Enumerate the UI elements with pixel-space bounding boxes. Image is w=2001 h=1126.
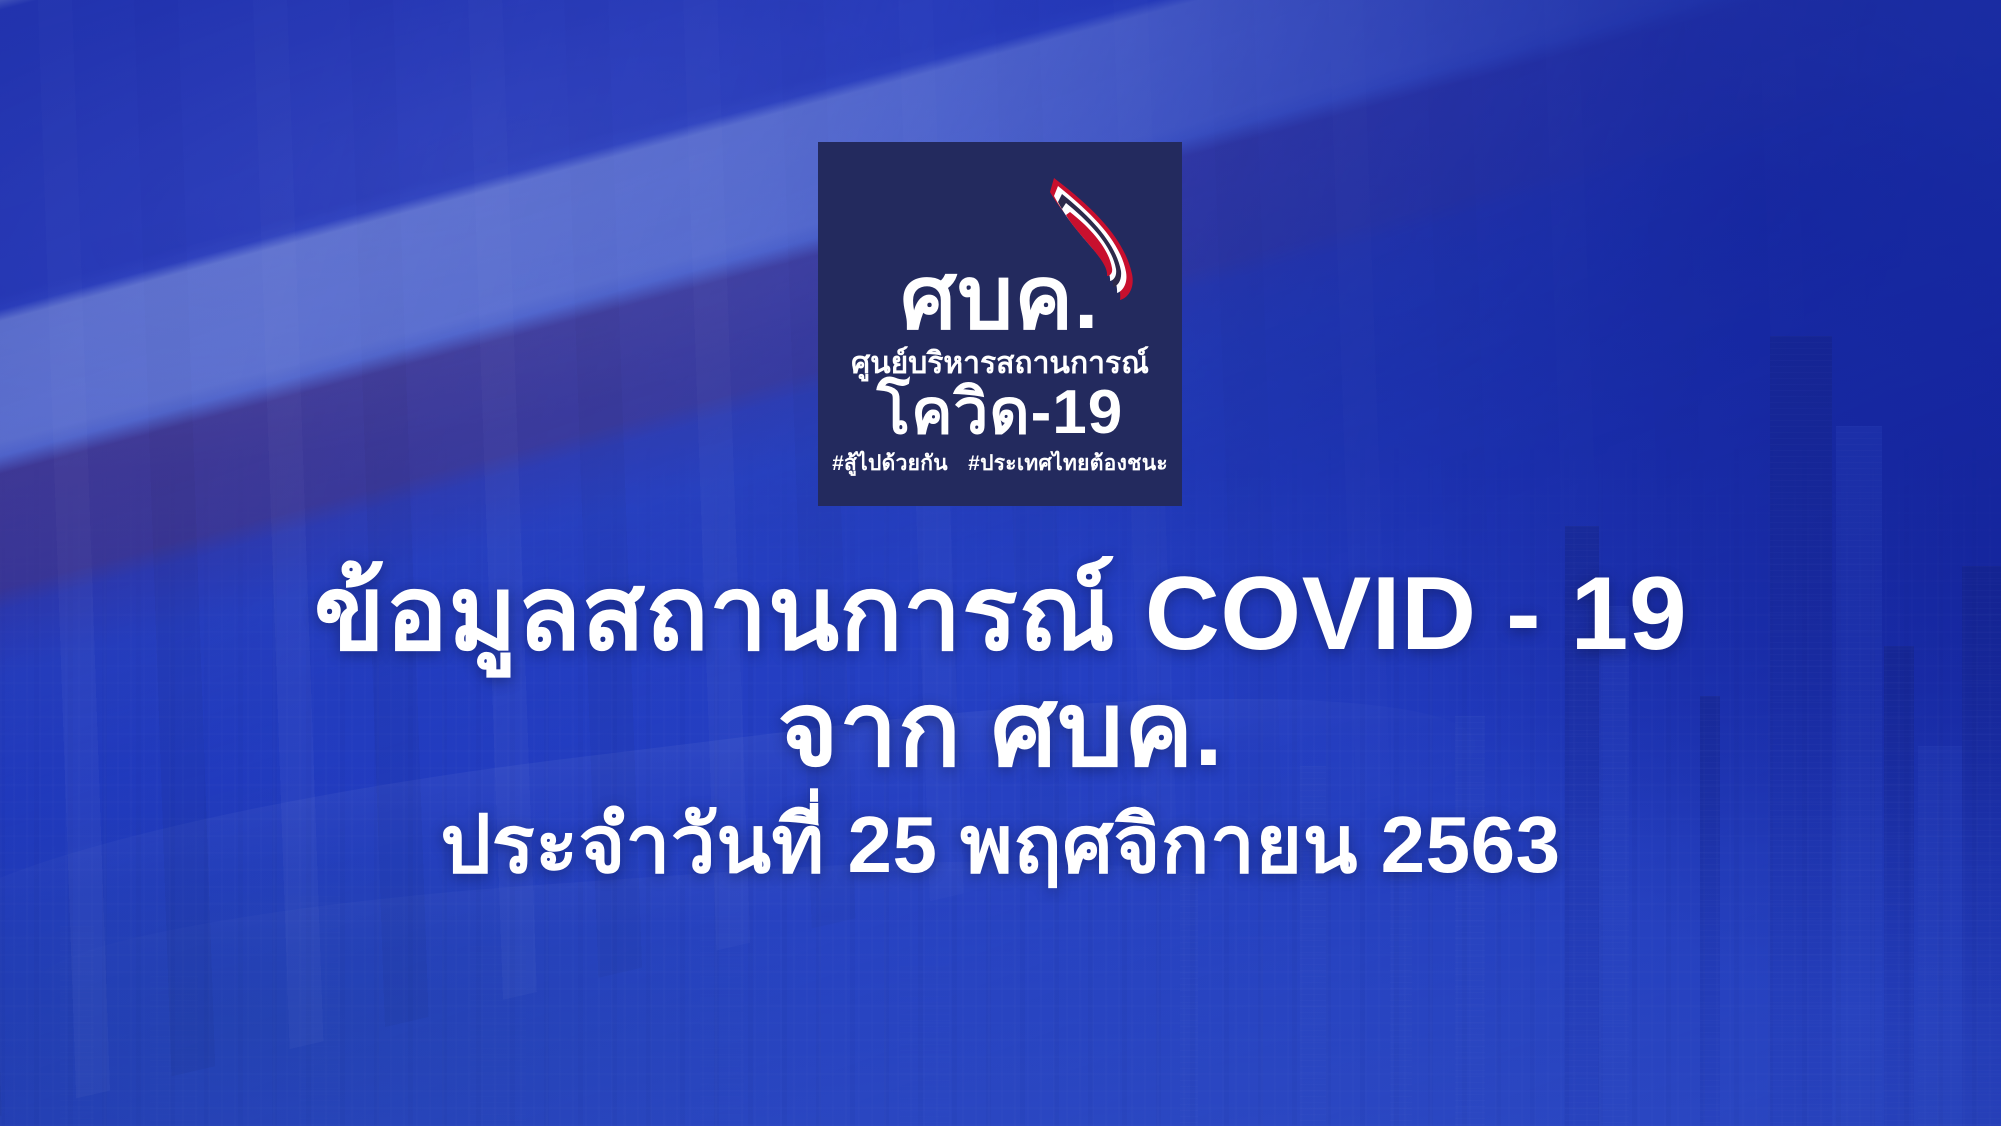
logo-covid-label: โควิด-19 [818, 380, 1182, 445]
headline-line-2: จาก ศบค. [0, 672, 2001, 788]
ccsa-logo-card: ศบค. ศูนย์บริหารสถานการณ์ โควิด-19 #สู้ไ… [818, 142, 1182, 506]
logo-full-name: ศูนย์บริหารสถานการณ์ [818, 347, 1182, 380]
hashtag-thailand-must-win: #ประเทศไทยต้องชนะ [968, 452, 1168, 475]
headline-line-1: ข้อมูลสถานการณ์ COVID - 19 [0, 556, 2001, 672]
hashtag-fight-together: #สู้ไปด้วยกัน [832, 452, 948, 475]
logo-hashtags: #สู้ไปด้วยกัน #ประเทศไทยต้องชนะ [818, 447, 1182, 480]
covid-info-banner: ศบค. ศูนย์บริหารสถานการณ์ โควิด-19 #สู้ไ… [0, 0, 2001, 1126]
headline-block: ข้อมูลสถานการณ์ COVID - 19 จาก ศบค. ประจ… [0, 556, 2001, 889]
headline-date-line: ประจำวันที่ 25 พฤศจิกายน 2563 [0, 801, 2001, 889]
logo-acronym: ศบค. [818, 254, 1182, 342]
